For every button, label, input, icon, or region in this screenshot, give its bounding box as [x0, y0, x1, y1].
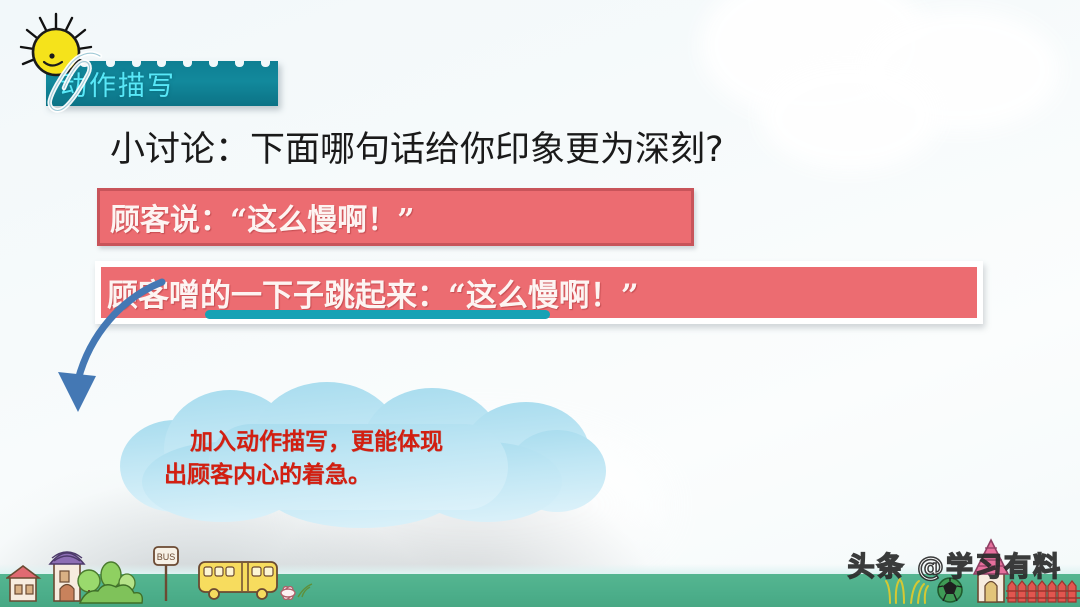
background-cloud-blob	[760, 60, 940, 170]
sentence-underline-highlight	[205, 310, 550, 319]
bus-stop-sign-icon: BUS	[152, 543, 180, 603]
bus-icon	[196, 558, 282, 602]
cloud-text-line-1: 加入动作描写，更能体现	[164, 426, 564, 459]
flower-icon	[276, 575, 314, 605]
sentence-box-plain: 顾客说：“这么慢啊！”	[97, 188, 694, 246]
cloud-callout-text: 加入动作描写，更能体现 出顾客内心的着急。	[164, 426, 564, 492]
cloud-callout: 加入动作描写，更能体现 出顾客内心的着急。	[112, 386, 610, 526]
bush-icon	[78, 583, 144, 605]
slide-canvas: 动作描写 小讨论：下面哪句话给你印象更为深刻? 顾客说：“这么慢啊！” 顾客噌的…	[0, 0, 1080, 607]
cloud-text-line-2: 出顾客内心的着急。	[164, 459, 564, 492]
bus-stop-label: BUS	[157, 552, 176, 562]
page-title: 小讨论：下面哪句话给你印象更为深刻?	[110, 126, 724, 174]
watermark-label: 头条 @学习有料	[848, 553, 1062, 583]
paperclip-icon	[38, 44, 116, 116]
